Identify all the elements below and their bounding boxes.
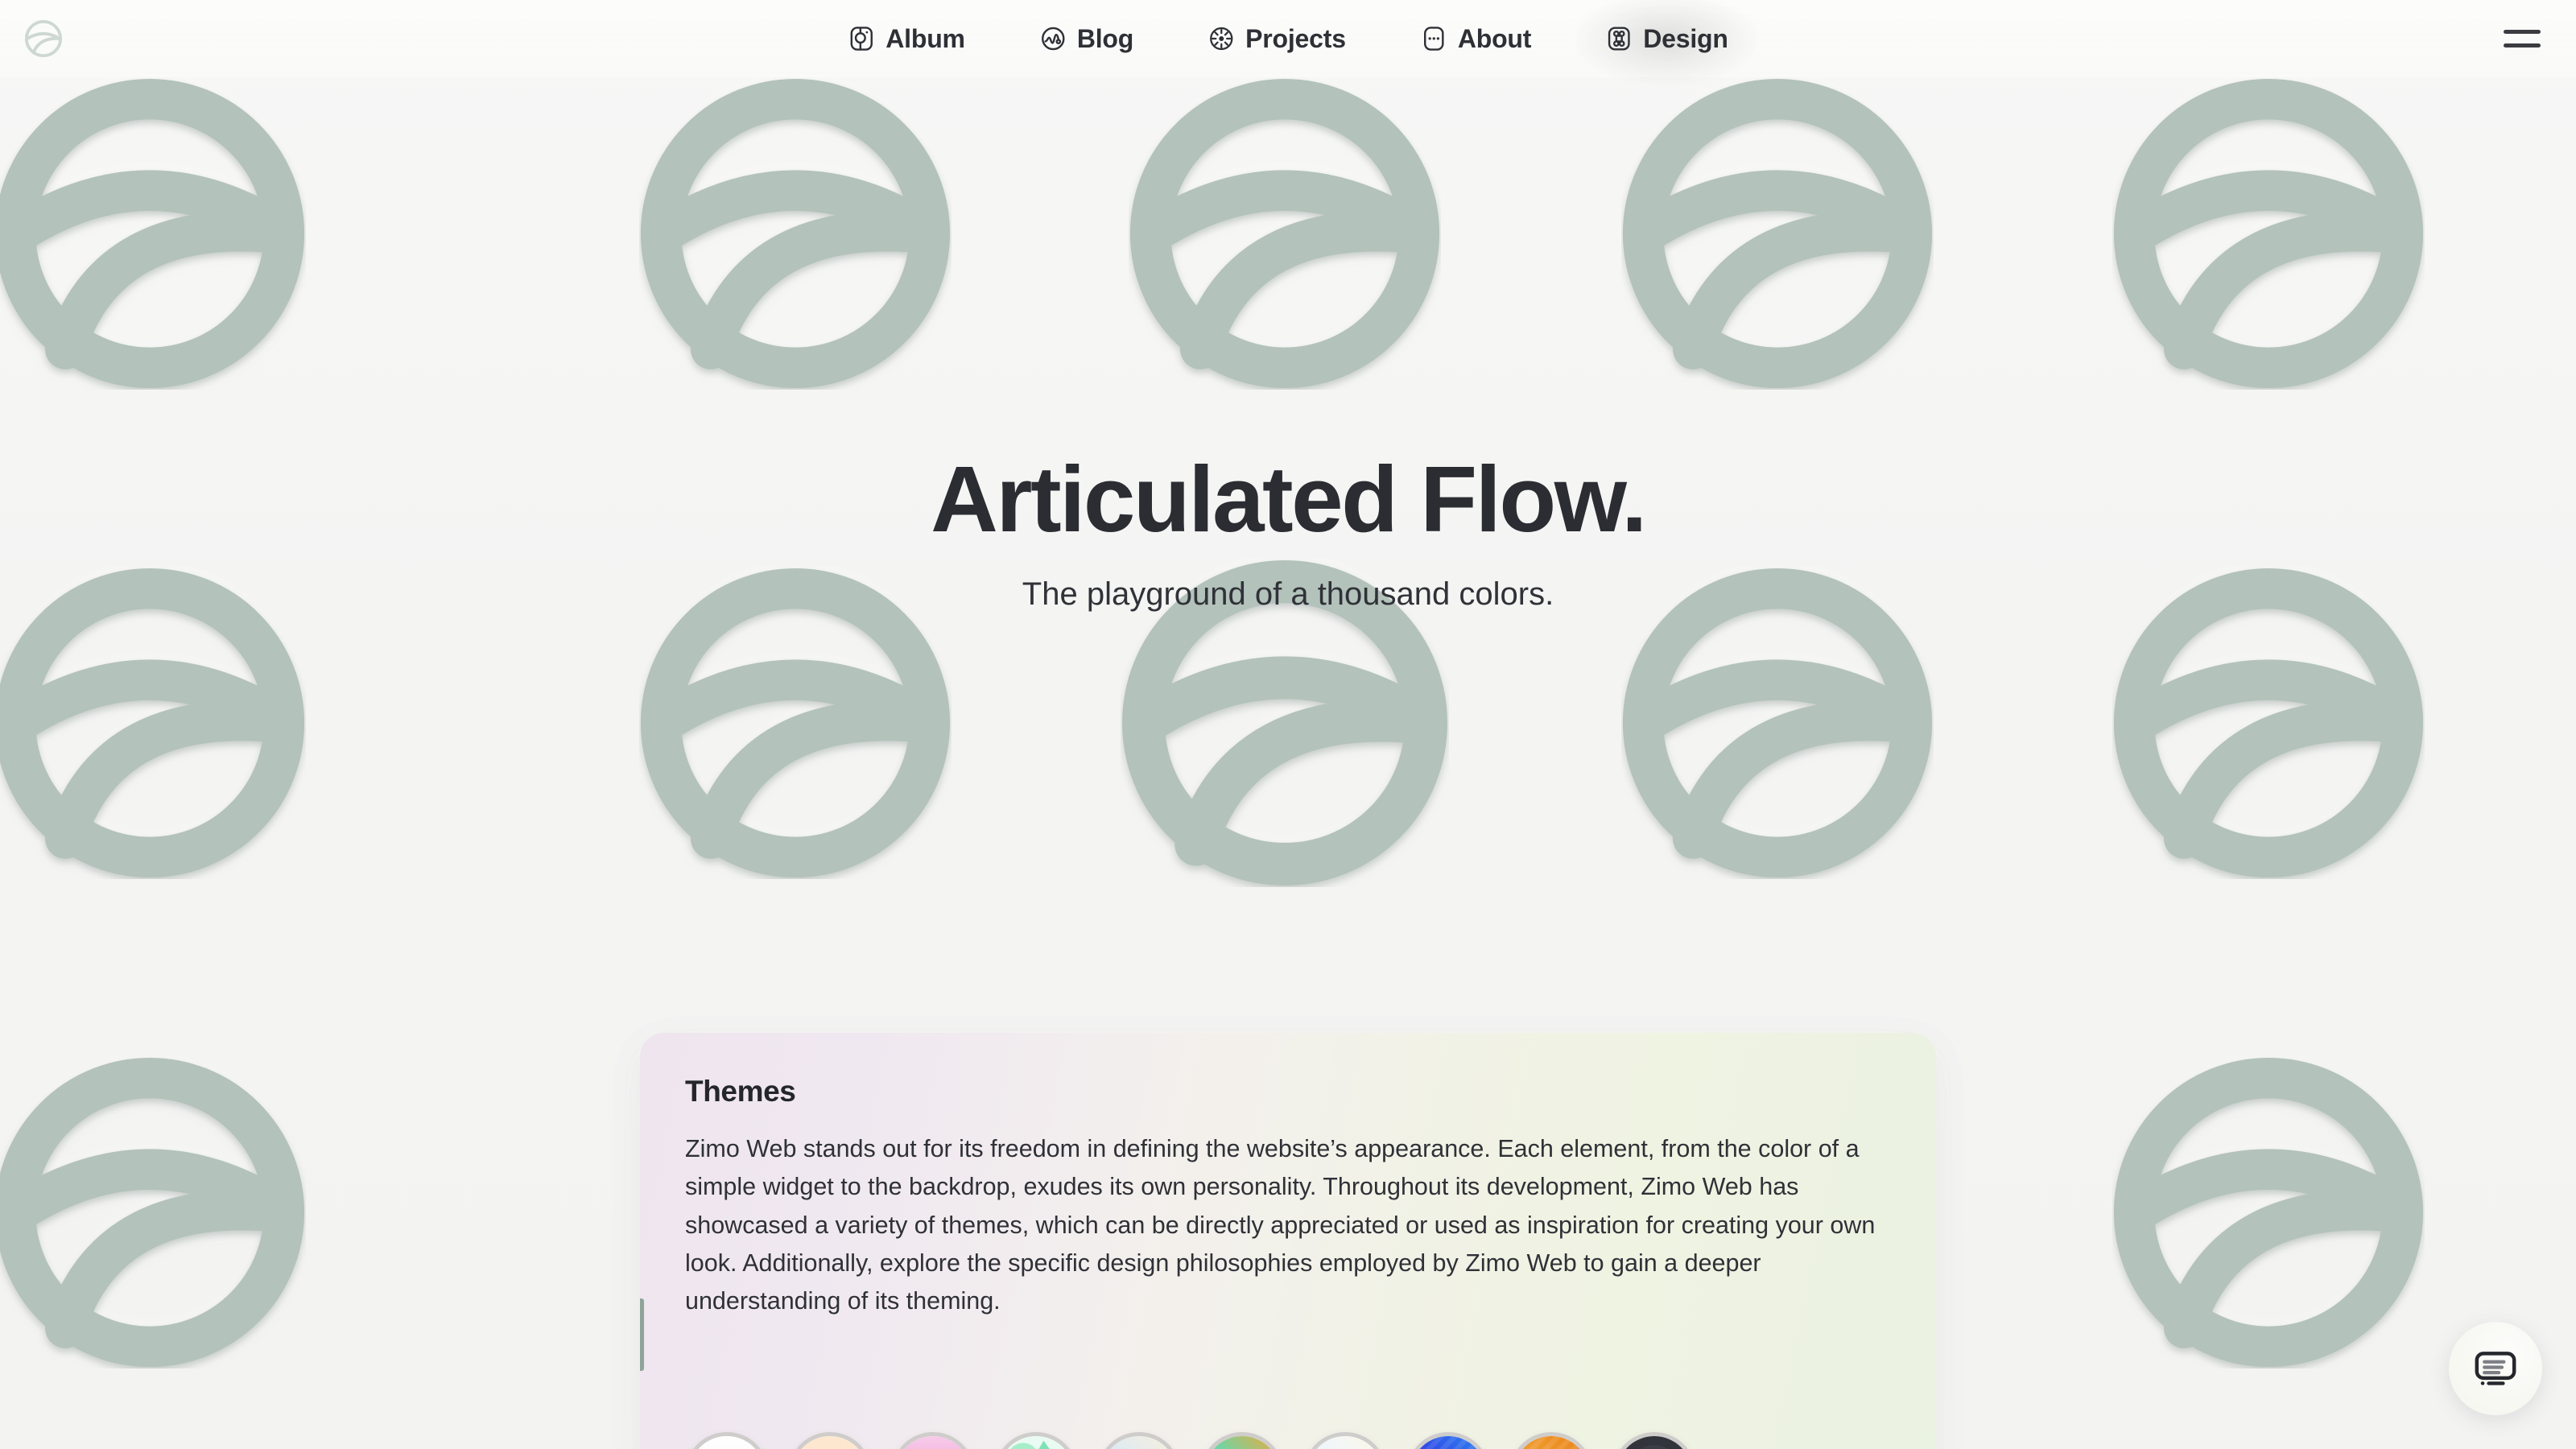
theme-swatch[interactable]	[891, 1432, 975, 1449]
nav-item-projects[interactable]: Projects	[1170, 16, 1383, 62]
background-logo-icon	[0, 1056, 306, 1368]
page-subtitle: The playground of a thousand colors.	[0, 576, 2576, 613]
nav-item-label: Design	[1643, 24, 1728, 54]
background-logo-icon	[0, 567, 306, 879]
theme-swatch[interactable]	[1200, 1432, 1284, 1449]
background-logo-icon	[1621, 77, 1934, 390]
background-logo-icon	[1129, 77, 1441, 390]
nav-item-label: Projects	[1245, 24, 1346, 54]
nav-item-label: Album	[885, 24, 965, 54]
background-logo-icon	[0, 77, 306, 390]
background-logo-icon	[639, 77, 952, 390]
nav-item-about[interactable]: About	[1383, 16, 1568, 62]
theme-swatch[interactable]	[1509, 1432, 1593, 1449]
nav-item-album[interactable]: Album	[811, 16, 1002, 62]
background-logo-icon	[639, 567, 952, 879]
projects-sun-icon	[1207, 25, 1235, 52]
nav-item-label: Blog	[1077, 24, 1133, 54]
theme-swatch[interactable]	[1406, 1432, 1490, 1449]
background-logo-icon	[2112, 567, 2425, 879]
page-title: Articulated Flow.	[0, 451, 2576, 549]
top-navigation-bar: Album Blog	[0, 0, 2576, 77]
theme-swatch[interactable]	[1097, 1432, 1181, 1449]
hero-section: Articulated Flow. The playground of a th…	[0, 451, 2576, 613]
album-frame-icon	[848, 25, 875, 52]
theme-swatch-row	[685, 1432, 1696, 1449]
blog-wave-circle-icon	[1039, 25, 1067, 52]
background-logo-icon	[2112, 1056, 2425, 1368]
background-logo-icon	[2112, 77, 2425, 390]
themes-card: Themes Zimo Web stands out for its freed…	[640, 1033, 1936, 1449]
theme-swatch[interactable]	[1303, 1432, 1387, 1449]
chat-button[interactable]	[2449, 1322, 2542, 1415]
primary-nav: Album Blog	[811, 16, 1765, 62]
hamburger-icon[interactable]	[2504, 27, 2541, 51]
nav-item-design[interactable]: Design	[1568, 16, 1765, 62]
nav-item-label: About	[1458, 24, 1531, 54]
hamburger-line	[2504, 30, 2541, 34]
theme-swatch[interactable]	[1612, 1432, 1696, 1449]
card-accent-bar	[640, 1298, 644, 1371]
hamburger-line	[2504, 43, 2541, 47]
theme-swatch[interactable]	[685, 1432, 769, 1449]
theme-swatch[interactable]	[788, 1432, 872, 1449]
background-logo-icon	[1621, 567, 1934, 879]
themes-description: Zimo Web stands out for its freedom in d…	[685, 1130, 1891, 1320]
chat-bubble-icon	[2472, 1345, 2519, 1392]
theme-swatch[interactable]	[994, 1432, 1078, 1449]
themes-heading: Themes	[685, 1075, 1891, 1108]
design-command-icon	[1605, 25, 1633, 52]
nav-item-blog[interactable]: Blog	[1002, 16, 1170, 62]
about-ellipsis-icon	[1420, 25, 1447, 52]
brand-logo-icon[interactable]	[24, 19, 63, 58]
